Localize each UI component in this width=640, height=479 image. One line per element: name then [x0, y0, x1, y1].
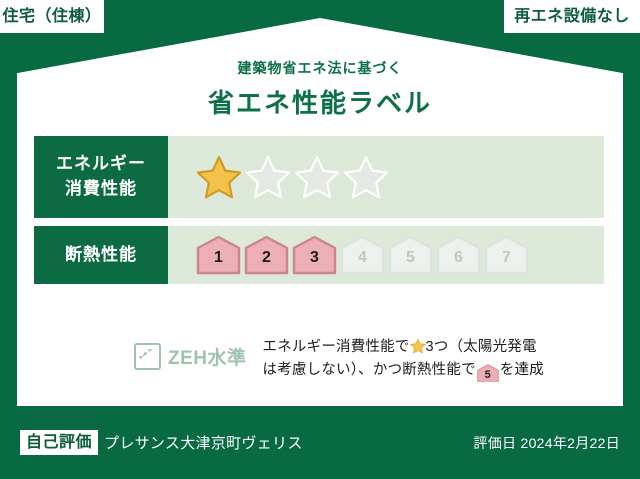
- insulation-grade-5: 5: [388, 235, 433, 275]
- insulation-grade-1: 1: [196, 235, 241, 275]
- evaluation-date: 評価日 2024年2月22日: [473, 433, 620, 453]
- star-empty-icon: [343, 154, 389, 200]
- energy-label-line2: 消費性能: [65, 177, 137, 202]
- grade-badge-value: 1: [214, 250, 223, 275]
- insulation-rating-value: 1234567: [168, 226, 604, 284]
- building-name: プレサンス大津京町ヴェリス: [104, 432, 303, 453]
- grade-badge-value: 4: [358, 250, 367, 275]
- zeh-description: エネルギー消費性能で3つ（太陽光発電 は考慮しない）、かつ断熱性能で5を達成: [263, 336, 604, 383]
- renewable-energy-tag: 再エネ設備なし: [504, 0, 640, 33]
- inline-grade-badge-value: 5: [477, 364, 499, 386]
- page-title: 省エネ性能ラベル: [0, 83, 640, 120]
- footer: 自己評価 プレサンス大津京町ヴェリス 評価日 2024年2月22日: [0, 406, 640, 479]
- title-block: 建築物省エネ法に基づく 省エネ性能ラベル: [0, 58, 640, 120]
- inline-star-icon: [410, 338, 426, 354]
- grade-badge-value: 7: [502, 250, 511, 275]
- star-rating: [196, 154, 389, 200]
- grade-badge-value: 6: [454, 250, 463, 275]
- insulation-performance-row: 断熱性能 1234567: [34, 226, 604, 284]
- zeh-dotted-square-icon: [134, 343, 161, 370]
- zeh-desc-part2: は考慮しない）、かつ断熱性能で: [263, 362, 476, 378]
- insulation-grade-2: 2: [244, 235, 289, 275]
- zeh-desc-star-count: 3つ（太陽光発電: [426, 339, 537, 355]
- insulation-grade-scale: 1234567: [196, 235, 529, 275]
- energy-label-line1: エネルギー: [56, 152, 146, 177]
- zeh-desc-part1: エネルギー消費性能で: [263, 339, 410, 355]
- insulation-label-line1: 断熱性能: [65, 243, 137, 268]
- energy-performance-label: エネルギー 消費性能: [34, 136, 168, 218]
- zeh-desc-part3: を達成: [500, 362, 544, 378]
- row-divider: [34, 218, 604, 226]
- inline-grade-badge: 5: [477, 364, 499, 382]
- insulation-performance-label: 断熱性能: [34, 226, 168, 284]
- energy-rating-value: [168, 136, 604, 218]
- zeh-mark: ZEH水準: [134, 336, 247, 370]
- zeh-label: ZEH水準: [168, 343, 247, 370]
- grade-badge-value: 5: [406, 250, 415, 275]
- energy-performance-label: 住宅（住棟） 再エネ設備なし 建築物省エネ法に基づく 省エネ性能ラベル エネルギ…: [0, 0, 640, 479]
- insulation-grade-4: 4: [340, 235, 385, 275]
- zeh-block: ZEH水準 エネルギー消費性能で3つ（太陽光発電 は考慮しない）、かつ断熱性能で…: [34, 336, 604, 383]
- evaluation-type-badge: 自己評価: [20, 430, 98, 456]
- grade-badge-value: 3: [310, 250, 319, 275]
- performance-rows: エネルギー 消費性能 断熱性能 1234567: [34, 136, 604, 284]
- label-subtitle: 建築物省エネ法に基づく: [0, 58, 640, 78]
- insulation-grade-7: 7: [484, 235, 529, 275]
- star-filled-icon: [196, 154, 242, 200]
- energy-performance-row: エネルギー 消費性能: [34, 136, 604, 218]
- insulation-grade-6: 6: [436, 235, 481, 275]
- star-empty-icon: [245, 154, 291, 200]
- insulation-grade-3: 3: [292, 235, 337, 275]
- grade-badge-value: 2: [262, 250, 271, 275]
- building-type-tag: 住宅（住棟）: [0, 0, 104, 33]
- star-empty-icon: [294, 154, 340, 200]
